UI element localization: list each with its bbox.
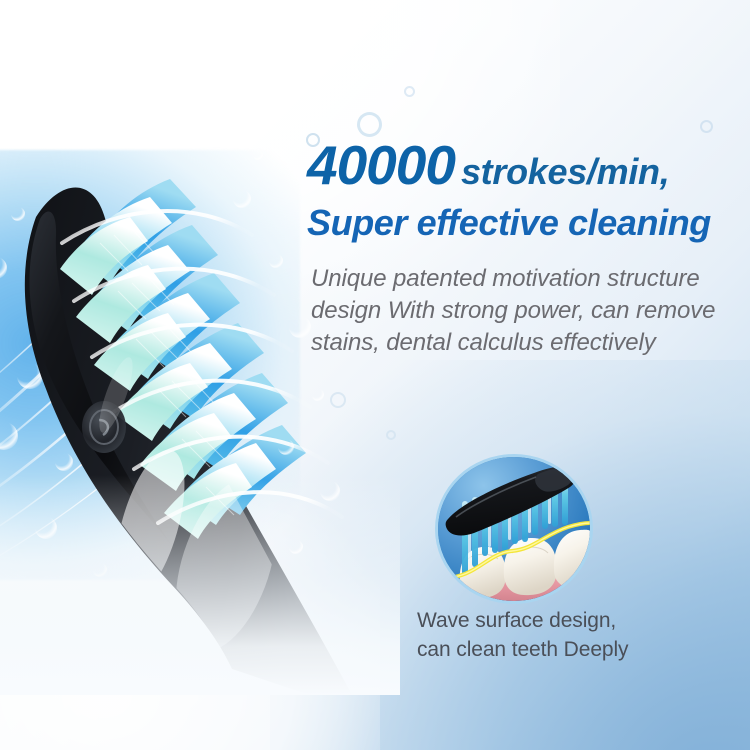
body-paragraph: Unique patented motivation structure des… (311, 263, 737, 359)
handle-fade-mask (0, 475, 400, 695)
inset-illustration (438, 457, 590, 601)
stroke-count-unit: strokes/min, (461, 151, 669, 192)
marketing-copy: 40000strokes/min, Super effective cleani… (307, 138, 737, 359)
decorative-bubble (700, 120, 713, 133)
stroke-count-value: 40000 (307, 134, 455, 196)
product-marketing-image: 40000strokes/min, Super effective cleani… (0, 0, 750, 750)
inset-detail-circle (435, 454, 593, 604)
inset-circle-border (435, 454, 593, 604)
inset-caption: Wave surface design, can clean teeth Dee… (417, 607, 717, 665)
headline-line-1: 40000strokes/min, (307, 138, 737, 193)
headline-line-2: Super effective cleaning (307, 205, 737, 241)
decorative-bubble (386, 430, 396, 440)
decorative-bubble (404, 86, 415, 97)
decorative-bubble (330, 392, 346, 408)
inset-caption-line-1: Wave surface design, (417, 607, 717, 636)
inset-caption-line-2: can clean teeth Deeply (417, 636, 717, 665)
